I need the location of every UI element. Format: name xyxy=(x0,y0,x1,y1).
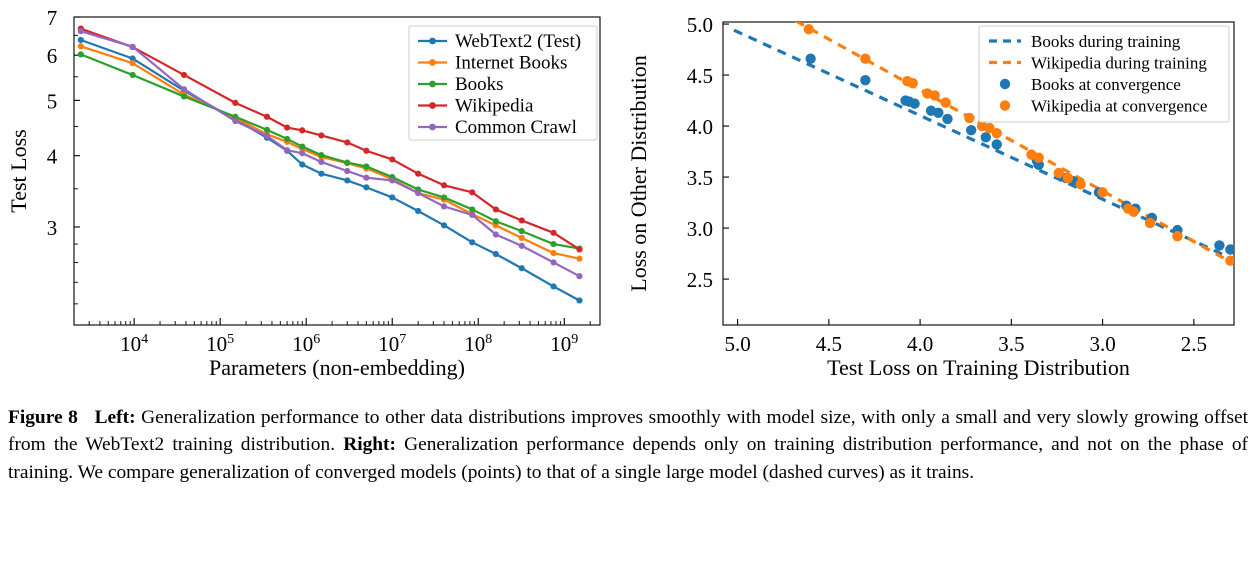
data-point xyxy=(299,150,305,156)
legend-swatch-marker xyxy=(429,59,436,66)
data-point xyxy=(264,133,270,139)
data-point xyxy=(363,163,369,169)
legend-swatch-marker xyxy=(1000,100,1010,110)
y-tick-label: 5.0 xyxy=(687,13,713,37)
right-plot-group: 5.04.54.03.53.02.52.53.03.54.04.55.0Test… xyxy=(626,13,1236,380)
right-plot-panel: 5.04.54.03.53.02.52.53.03.54.04.55.0Test… xyxy=(620,0,1256,400)
legend-item-label[interactable]: Wikipedia xyxy=(455,96,534,117)
data-point xyxy=(299,143,305,149)
data-point xyxy=(576,256,582,262)
legend-item-label[interactable]: WebText2 (Test) xyxy=(455,31,581,52)
data-point xyxy=(519,243,525,249)
scatter-point xyxy=(964,113,974,123)
scatter-point xyxy=(992,128,1002,138)
scatter-point xyxy=(804,24,814,34)
data-point xyxy=(318,152,324,158)
legend-swatch-marker xyxy=(429,81,436,88)
x-tick-label: 3.5 xyxy=(998,332,1024,356)
data-point xyxy=(284,125,290,131)
data-point xyxy=(493,206,499,212)
scatter-point xyxy=(1225,244,1235,254)
data-point xyxy=(130,60,136,66)
y-axis-label: Loss on Other Distribution xyxy=(626,55,651,292)
scatter-point xyxy=(908,78,918,88)
caption-right-tag: Right: xyxy=(343,434,396,455)
legend-item-label[interactable]: Internet Books xyxy=(455,53,567,74)
data-point xyxy=(363,184,369,190)
data-point xyxy=(344,177,350,183)
data-point xyxy=(78,37,84,43)
scatter-point xyxy=(942,114,952,124)
data-point xyxy=(78,28,84,34)
legend-swatch-marker xyxy=(429,124,436,131)
x-tick-label: 106 xyxy=(292,332,320,356)
data-point xyxy=(550,241,556,247)
y-axis-label: Test Loss xyxy=(6,129,31,212)
data-point xyxy=(389,177,395,183)
y-tick-label: 4 xyxy=(47,145,58,169)
data-point xyxy=(232,100,238,106)
data-point xyxy=(232,118,238,124)
caption-left-tag: Left: xyxy=(95,407,136,428)
scatter-point xyxy=(1145,218,1155,228)
scatter-point xyxy=(1034,152,1044,162)
scatter-point xyxy=(992,139,1002,149)
data-point xyxy=(519,265,525,271)
data-point xyxy=(469,239,475,245)
scatter-point xyxy=(860,54,870,64)
y-tick-label: 4.0 xyxy=(687,115,713,139)
scatter-point xyxy=(1063,173,1073,183)
data-point xyxy=(441,194,447,200)
data-point xyxy=(469,189,475,195)
y-tick-label: 6 xyxy=(47,44,58,68)
data-point xyxy=(519,235,525,241)
scatter-point xyxy=(1214,240,1224,250)
y-tick-label: 3 xyxy=(47,216,58,240)
data-point xyxy=(363,148,369,154)
data-point xyxy=(415,171,421,177)
data-point xyxy=(284,147,290,153)
x-tick-label: 107 xyxy=(378,332,406,356)
y-tick-label: 5 xyxy=(47,89,58,113)
data-point xyxy=(469,206,475,212)
data-point xyxy=(389,156,395,162)
data-point xyxy=(576,246,582,252)
data-point xyxy=(264,127,270,133)
data-point xyxy=(181,72,187,78)
data-point xyxy=(493,231,499,237)
data-point xyxy=(299,161,305,167)
figure-8-container: 10410510610710810934567Parameters (non-e… xyxy=(0,0,1256,576)
y-tick-label: 3.0 xyxy=(687,217,713,241)
data-point xyxy=(493,251,499,257)
data-point xyxy=(318,159,324,165)
legend-item-label[interactable]: Common Crawl xyxy=(455,117,577,138)
data-point xyxy=(441,222,447,228)
x-tick-label: 108 xyxy=(464,332,492,356)
x-tick-label: 4.5 xyxy=(816,332,842,356)
figure-caption: Figure 8 Left: Generalization performanc… xyxy=(8,404,1248,486)
data-point xyxy=(519,217,525,223)
x-tick-label: 5.0 xyxy=(724,332,750,356)
data-point xyxy=(415,208,421,214)
x-tick-label: 4.0 xyxy=(907,332,933,356)
data-point xyxy=(318,171,324,177)
x-axis-label: Parameters (non-embedding) xyxy=(209,355,465,380)
right-plot-svg: 5.04.54.03.53.02.52.53.03.54.04.55.0Test… xyxy=(620,0,1256,400)
data-point xyxy=(493,218,499,224)
data-point xyxy=(389,194,395,200)
scatter-point xyxy=(1076,179,1086,189)
data-point xyxy=(576,273,582,279)
data-point xyxy=(550,259,556,265)
y-tick-label: 4.5 xyxy=(687,64,713,88)
data-point xyxy=(130,72,136,78)
data-point xyxy=(441,203,447,209)
data-point xyxy=(441,182,447,188)
scatter-point xyxy=(860,75,870,85)
left-plot-group: 10410510610710810934567Parameters (non-e… xyxy=(6,6,600,380)
scatter-point xyxy=(940,97,950,107)
data-point xyxy=(550,230,556,236)
data-point xyxy=(344,168,350,174)
data-point xyxy=(181,86,187,92)
y-tick-label: 3.5 xyxy=(687,166,713,190)
data-point xyxy=(78,43,84,49)
data-point xyxy=(284,136,290,142)
scatter-point xyxy=(1128,207,1138,217)
legend-item-label[interactable]: Wikipedia during training xyxy=(1031,54,1207,73)
y-tick-label: 2.5 xyxy=(687,268,713,292)
scatter-point xyxy=(909,98,919,108)
data-point xyxy=(519,228,525,234)
data-point xyxy=(363,175,369,181)
x-tick-label: 105 xyxy=(206,332,234,356)
legend-swatch-marker xyxy=(429,102,436,109)
left-plot-panel: 10410510610710810934567Parameters (non-e… xyxy=(0,0,640,400)
data-point xyxy=(344,160,350,166)
legend-swatch-marker xyxy=(429,38,436,45)
scatter-point xyxy=(930,90,940,100)
caption-gap xyxy=(78,407,95,428)
scatter-point xyxy=(1054,168,1064,178)
data-point xyxy=(550,283,556,289)
x-tick-label: 109 xyxy=(550,332,578,356)
data-point xyxy=(576,297,582,303)
data-point xyxy=(550,250,556,256)
x-tick-label: 104 xyxy=(120,332,148,356)
figure-label: Figure 8 xyxy=(8,407,78,428)
data-point xyxy=(318,132,324,138)
legend-swatch-marker xyxy=(1000,79,1010,89)
scatter-point xyxy=(1097,187,1107,197)
x-tick-label: 3.0 xyxy=(1089,332,1115,356)
scatter-point xyxy=(1225,256,1235,266)
scatter-point xyxy=(805,54,815,64)
scatter-point xyxy=(966,125,976,135)
scatter-point xyxy=(981,132,991,142)
legend-item-label[interactable]: Books xyxy=(455,74,504,95)
x-tick-label: 2.5 xyxy=(1181,332,1207,356)
scatter-point xyxy=(933,108,943,118)
data-point xyxy=(344,139,350,145)
data-point xyxy=(78,51,84,57)
left-plot-svg: 10410510610710810934567Parameters (non-e… xyxy=(0,0,640,400)
data-point xyxy=(264,114,270,120)
data-point xyxy=(469,212,475,218)
legend-item-label[interactable]: Wikipedia at convergence xyxy=(1031,97,1207,116)
legend-item-label[interactable]: Books at convergence xyxy=(1031,75,1181,94)
x-axis-label: Test Loss on Training Distribution xyxy=(827,355,1130,380)
data-point xyxy=(299,127,305,133)
data-point xyxy=(130,44,136,50)
y-tick-label: 7 xyxy=(47,6,58,30)
legend-item-label[interactable]: Books during training xyxy=(1031,32,1181,51)
scatter-point xyxy=(1172,231,1182,241)
data-point xyxy=(181,93,187,99)
data-point xyxy=(415,190,421,196)
